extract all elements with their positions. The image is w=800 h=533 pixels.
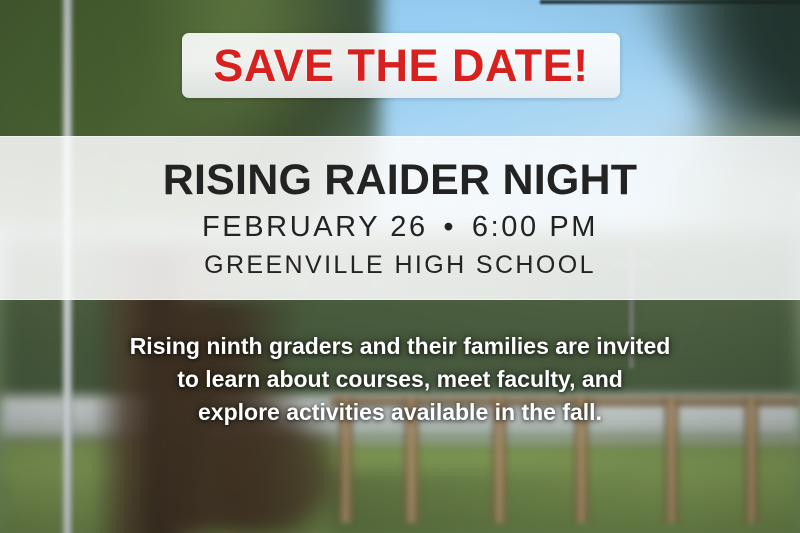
description-line-3: explore activities available in the fall…: [0, 396, 800, 429]
event-time: 6:00 PM: [472, 211, 598, 243]
event-date-time: FEBRUARY 26 • 6:00 PM: [202, 211, 598, 244]
bullet-separator-icon: •: [438, 211, 461, 243]
save-the-date-flyer: SAVE THE DATE! RISING RAIDER NIGHT FEBRU…: [0, 0, 800, 533]
event-info-band: RISING RAIDER NIGHT FEBRUARY 26 • 6:00 P…: [0, 136, 800, 300]
event-date: FEBRUARY 26: [202, 211, 428, 243]
description-line-2: to learn about courses, meet faculty, an…: [0, 363, 800, 396]
save-the-date-badge: SAVE THE DATE!: [182, 33, 620, 98]
event-description: Rising ninth graders and their families …: [0, 330, 800, 429]
save-the-date-label: SAVE THE DATE!: [213, 40, 588, 92]
event-headline: RISING RAIDER NIGHT: [163, 158, 637, 203]
event-venue: GREENVILLE HIGH SCHOOL: [204, 251, 596, 280]
description-line-1: Rising ninth graders and their families …: [0, 330, 800, 363]
